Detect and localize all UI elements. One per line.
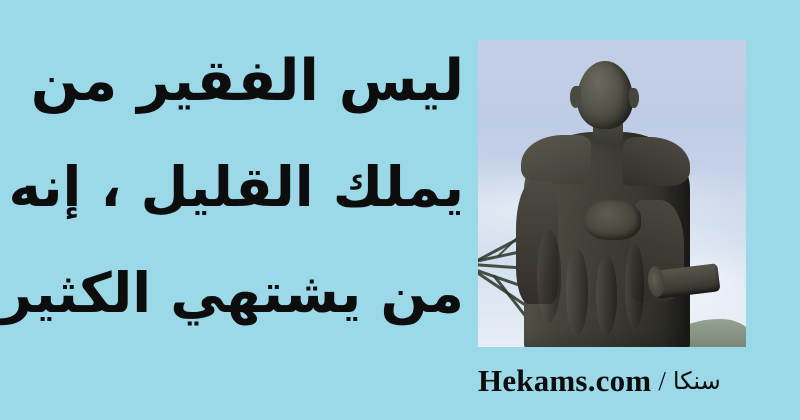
author-name-arabic: سنكا — [673, 367, 721, 395]
statue-shoulder-left — [521, 135, 591, 184]
toga-fold — [625, 243, 644, 329]
quote-line-3: من يشتهي الكثير — [0, 240, 468, 346]
site-name-label: Hekams.com — [478, 363, 651, 399]
quote-line-2: يملك القليل ، إنه — [0, 134, 468, 240]
statue-ear-left — [570, 86, 581, 107]
seneca-statue-photo — [478, 40, 746, 347]
toga-fold — [596, 255, 617, 335]
toga-fold — [537, 230, 561, 322]
quote-line-1: ليس الفقير من — [0, 28, 468, 134]
statue-head — [577, 61, 633, 129]
credit-separator: / — [658, 366, 666, 397]
footer-credit: Hekams.com / سنكا — [478, 360, 778, 402]
statue-hands — [585, 200, 641, 240]
statue-figure — [478, 40, 746, 347]
statue-shoulder-right — [623, 137, 690, 186]
statue-ear-right — [629, 88, 638, 108]
quote-card: ليس الفقير من يملك القليل ، إنه من يشتهي… — [0, 0, 800, 420]
quote-block: ليس الفقير من يملك القليل ، إنه من يشتهي… — [0, 28, 468, 348]
toga-fold — [566, 249, 587, 335]
